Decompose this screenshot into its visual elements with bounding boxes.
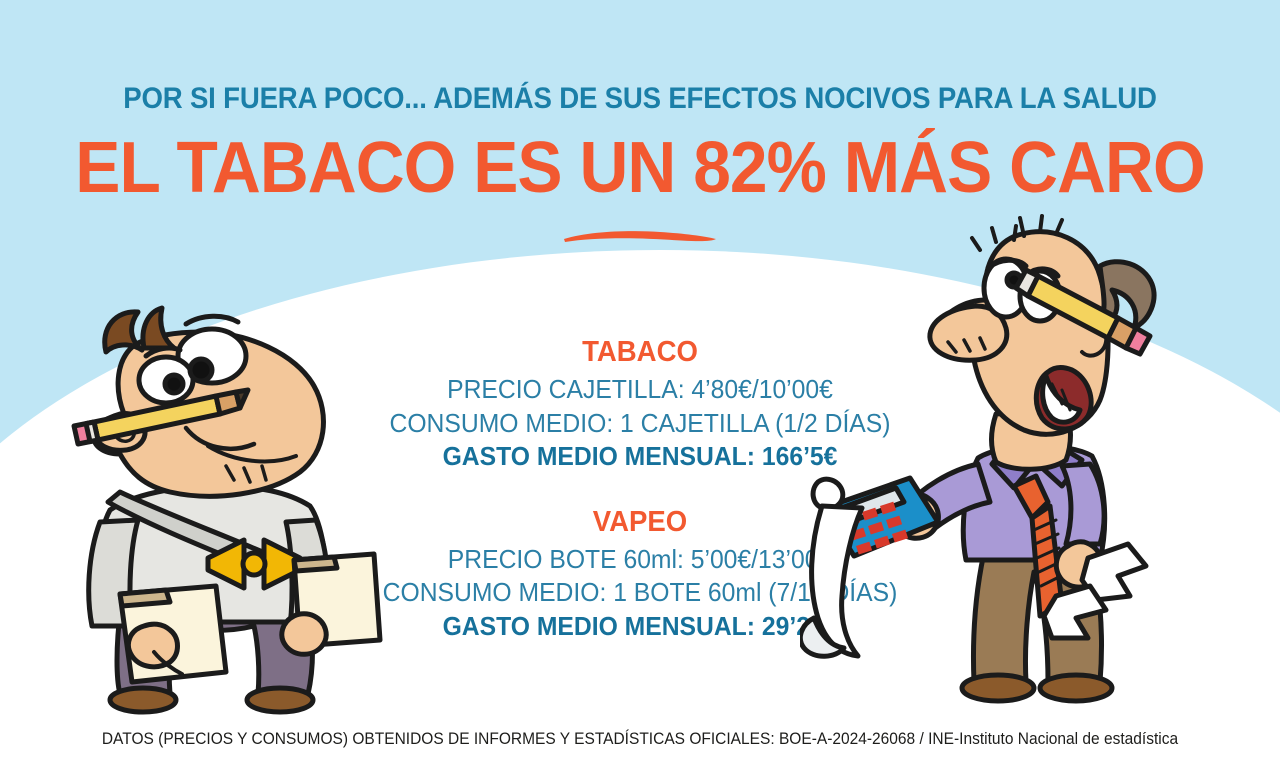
hand-drawn-underline-icon — [560, 228, 720, 244]
infographic-poster: POR SI FUERA POCO... ADEMÁS DE SUS EFECT… — [0, 0, 1280, 768]
page-title: EL TABACO ES UN 82% MÁS CARO — [38, 114, 1241, 204]
cartoon-accountant-shocked-with-calculator — [800, 214, 1240, 720]
source-note: DATOS (PRECIOS Y CONSUMOS) OBTENIDOS DE … — [38, 730, 1241, 750]
cartoon-clerk-with-folders — [58, 296, 408, 716]
header-block: POR SI FUERA POCO... ADEMÁS DE SUS EFECT… — [0, 0, 1280, 204]
kicker-text: POR SI FUERA POCO... ADEMÁS DE SUS EFECT… — [51, 0, 1229, 114]
